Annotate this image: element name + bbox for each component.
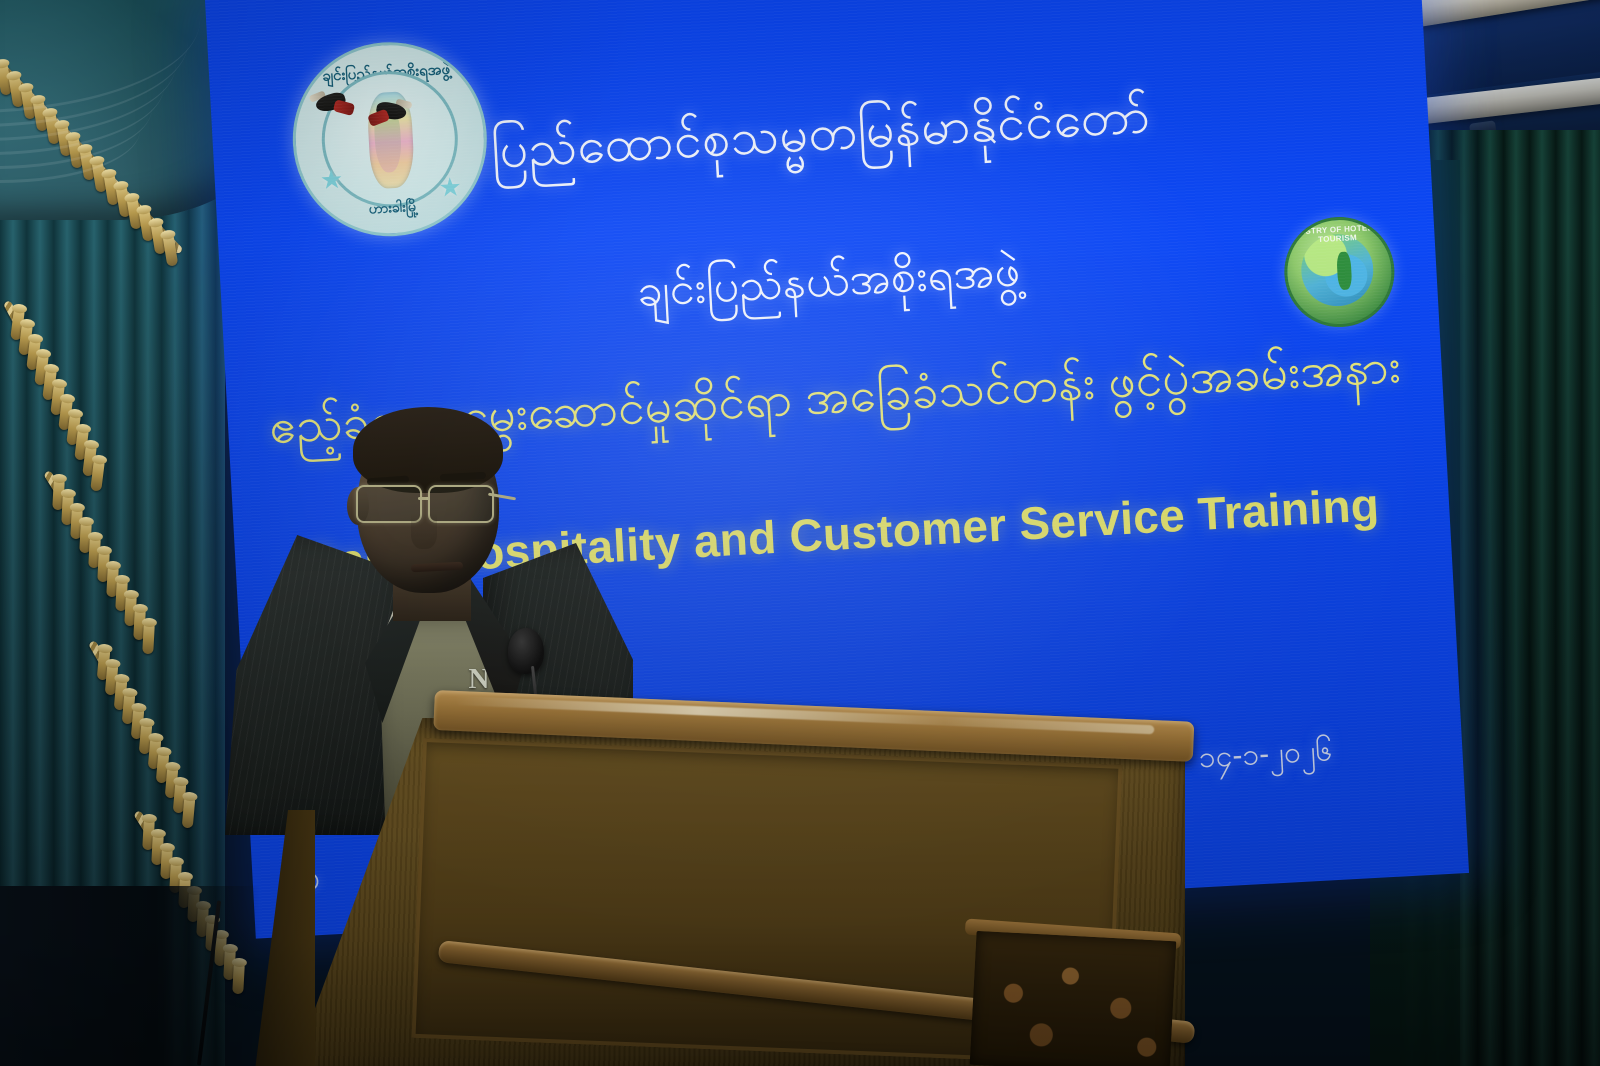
tassel [142,624,155,655]
tassel [181,797,195,828]
nose [411,513,437,549]
wooden-podium [255,690,1185,1066]
podium-carved-panel [970,931,1177,1066]
conference-photo-scene: ချင်းပြည်နယ်အစိုးရအဖွဲ့ ★ ★ ဟားခါးမြို့ [0,0,1600,1066]
microphone-icon [508,628,544,674]
slide-date: ၁၄-၁-၂၀၂၆ [1198,730,1334,782]
podium-left-edge [255,810,315,1066]
hornbill-icon-left [309,87,355,123]
shadow-bottom-left [0,886,260,1066]
slide-line-2-burmese: ချင်းပြည်နယ်အစိုးရအဖွဲ့ [220,219,1437,351]
